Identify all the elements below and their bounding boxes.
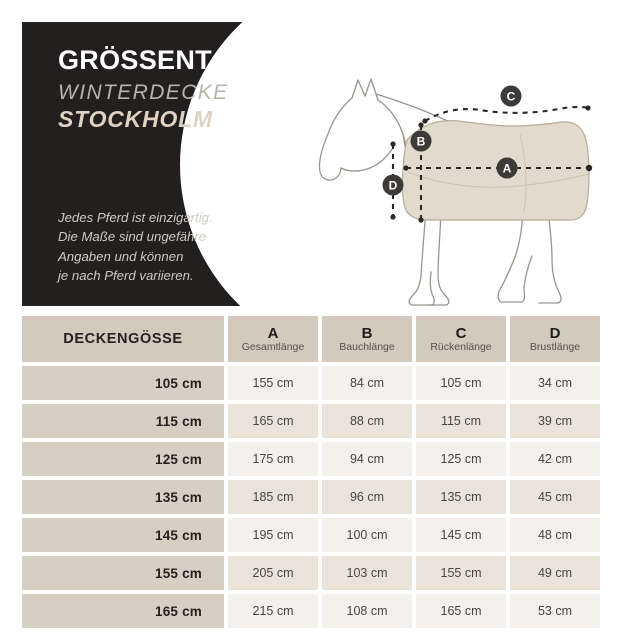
row-cell-a-text: 155 cm: [253, 376, 294, 390]
row-cell-c-text: 165 cm: [441, 604, 482, 618]
row-cell-a-text: 175 cm: [253, 452, 294, 466]
row-cell-d: 48 cm: [510, 518, 600, 552]
marker-b-label: B: [417, 135, 426, 149]
size-table: DECKENGÖSSE A Gesamtlänge B Bauchlänge C…: [22, 316, 600, 632]
disclaimer-line-3: Angaben und können: [58, 247, 308, 266]
hero-banner: GRÖSSENTABELLE WINTERDECKE STOCKHOLM Jed…: [22, 22, 598, 306]
header-col-d-letter: D: [550, 326, 561, 341]
table-row: 155 cm 205 cm 103 cm 155 cm 49 cm: [22, 556, 600, 590]
marker-a: A: [497, 158, 518, 179]
header-col-d-sub: Brustlänge: [530, 342, 580, 353]
row-cell-c-text: 115 cm: [441, 414, 481, 428]
hero-headings: GRÖSSENTABELLE WINTERDECKE STOCKHOLM: [58, 46, 358, 132]
row-cell-b: 84 cm: [322, 366, 412, 400]
row-cell-d: 39 cm: [510, 404, 600, 438]
row-cell-c-text: 125 cm: [441, 452, 482, 466]
row-cell-b: 103 cm: [322, 556, 412, 590]
row-cell-d: 53 cm: [510, 594, 600, 628]
row-cell-c: 105 cm: [416, 366, 506, 400]
header-col-a: A Gesamtlänge: [228, 316, 318, 362]
header-col-c-sub: Rückenlänge: [430, 342, 491, 353]
row-cell-a-text: 215 cm: [253, 604, 294, 618]
row-cell-b-text: 94 cm: [350, 452, 384, 466]
disclaimer-line-2: Die Maße sind ungefähre: [58, 227, 308, 246]
table-row: 135 cm 185 cm 96 cm 135 cm 45 cm: [22, 480, 600, 514]
row-size-cell: 165 cm: [22, 594, 224, 628]
row-cell-b: 88 cm: [322, 404, 412, 438]
table-row: 165 cm 215 cm 108 cm 165 cm 53 cm: [22, 594, 600, 628]
marker-c-label: C: [507, 90, 516, 104]
header-col-b-letter: B: [362, 326, 373, 341]
row-cell-a: 165 cm: [228, 404, 318, 438]
row-cell-c-text: 105 cm: [441, 376, 482, 390]
row-cell-c: 115 cm: [416, 404, 506, 438]
disclaimer-line-4: je nach Pferd variieren.: [58, 266, 308, 285]
row-cell-b-text: 84 cm: [350, 376, 384, 390]
row-cell-a-text: 195 cm: [253, 528, 294, 542]
row-cell-d-text: 42 cm: [538, 452, 572, 466]
header-col-b-sub: Bauchlänge: [339, 342, 394, 353]
header-size-text: DECKENGÖSSE: [63, 331, 182, 347]
row-cell-b: 96 cm: [322, 480, 412, 514]
row-cell-c: 145 cm: [416, 518, 506, 552]
row-cell-b: 108 cm: [322, 594, 412, 628]
row-cell-b-text: 100 cm: [347, 528, 388, 542]
row-cell-d: 34 cm: [510, 366, 600, 400]
row-cell-a: 195 cm: [228, 518, 318, 552]
table-row: 115 cm 165 cm 88 cm 115 cm 39 cm: [22, 404, 600, 438]
table-row: 105 cm 155 cm 84 cm 105 cm 34 cm: [22, 366, 600, 400]
row-cell-d-text: 39 cm: [538, 414, 572, 428]
row-size-text: 145 cm: [155, 528, 202, 543]
row-cell-b-text: 88 cm: [350, 414, 384, 428]
row-cell-c: 125 cm: [416, 442, 506, 476]
row-size-text: 125 cm: [155, 452, 202, 467]
row-cell-c-text: 135 cm: [441, 490, 482, 504]
marker-b: B: [411, 131, 432, 152]
row-cell-d-text: 34 cm: [538, 376, 572, 390]
row-size-cell: 155 cm: [22, 556, 224, 590]
row-cell-b-text: 103 cm: [347, 566, 388, 580]
header-col-c-letter: C: [456, 326, 467, 341]
row-size-cell: 115 cm: [22, 404, 224, 438]
size-chart-page: GRÖSSENTABELLE WINTERDECKE STOCKHOLM Jed…: [0, 0, 620, 620]
row-cell-c: 165 cm: [416, 594, 506, 628]
table-row: 145 cm 195 cm 100 cm 145 cm 48 cm: [22, 518, 600, 552]
row-size-text: 165 cm: [155, 604, 202, 619]
row-cell-d: 42 cm: [510, 442, 600, 476]
disclaimer-line-1: Jedes Pferd ist einzigartig.: [58, 208, 308, 227]
row-cell-a: 185 cm: [228, 480, 318, 514]
hero-disclaimer: Jedes Pferd ist einzigartig. Die Maße si…: [58, 208, 308, 286]
marker-c: C: [501, 86, 522, 107]
row-cell-d: 49 cm: [510, 556, 600, 590]
row-size-cell: 125 cm: [22, 442, 224, 476]
header-col-d: D Brustlänge: [510, 316, 600, 362]
hero-subtitle: WINTERDECKE: [58, 81, 358, 106]
row-cell-b-text: 96 cm: [350, 490, 384, 504]
row-cell-a: 155 cm: [228, 366, 318, 400]
line-c: [425, 107, 588, 121]
row-size-text: 155 cm: [155, 566, 202, 581]
row-cell-d-text: 45 cm: [538, 490, 572, 504]
table-header-row: DECKENGÖSSE A Gesamtlänge B Bauchlänge C…: [22, 316, 600, 362]
header-col-a-sub: Gesamtlänge: [242, 342, 304, 353]
marker-a-label: A: [503, 162, 512, 176]
row-size-text: 115 cm: [156, 414, 202, 429]
header-col-c: C Rückenlänge: [416, 316, 506, 362]
page-title: GRÖSSENTABELLE: [58, 46, 358, 74]
header-size-label: DECKENGÖSSE: [22, 316, 224, 362]
row-cell-a-text: 185 cm: [253, 490, 294, 504]
hero-product-name: STOCKHOLM: [58, 107, 358, 132]
row-cell-a-text: 165 cm: [253, 414, 294, 428]
row-cell-b: 94 cm: [322, 442, 412, 476]
row-cell-b: 100 cm: [322, 518, 412, 552]
row-cell-d-text: 53 cm: [538, 604, 572, 618]
row-size-text: 105 cm: [155, 376, 202, 391]
row-cell-b-text: 108 cm: [347, 604, 388, 618]
row-size-cell: 145 cm: [22, 518, 224, 552]
row-cell-a: 175 cm: [228, 442, 318, 476]
row-cell-c-text: 145 cm: [441, 528, 482, 542]
header-col-a-letter: A: [268, 326, 279, 341]
row-size-text: 135 cm: [155, 490, 202, 505]
marker-d-label: D: [389, 179, 398, 193]
row-cell-d-text: 48 cm: [538, 528, 572, 542]
row-cell-a: 205 cm: [228, 556, 318, 590]
row-cell-d: 45 cm: [510, 480, 600, 514]
marker-d: D: [383, 175, 404, 196]
row-cell-d-text: 49 cm: [538, 566, 572, 580]
row-cell-c: 135 cm: [416, 480, 506, 514]
row-cell-c-text: 155 cm: [441, 566, 482, 580]
row-size-cell: 135 cm: [22, 480, 224, 514]
row-size-cell: 105 cm: [22, 366, 224, 400]
row-cell-c: 155 cm: [416, 556, 506, 590]
row-cell-a-text: 205 cm: [253, 566, 294, 580]
horse-blanket: [402, 121, 589, 220]
header-col-b: B Bauchlänge: [322, 316, 412, 362]
table-row: 125 cm 175 cm 94 cm 125 cm 42 cm: [22, 442, 600, 476]
row-cell-a: 215 cm: [228, 594, 318, 628]
